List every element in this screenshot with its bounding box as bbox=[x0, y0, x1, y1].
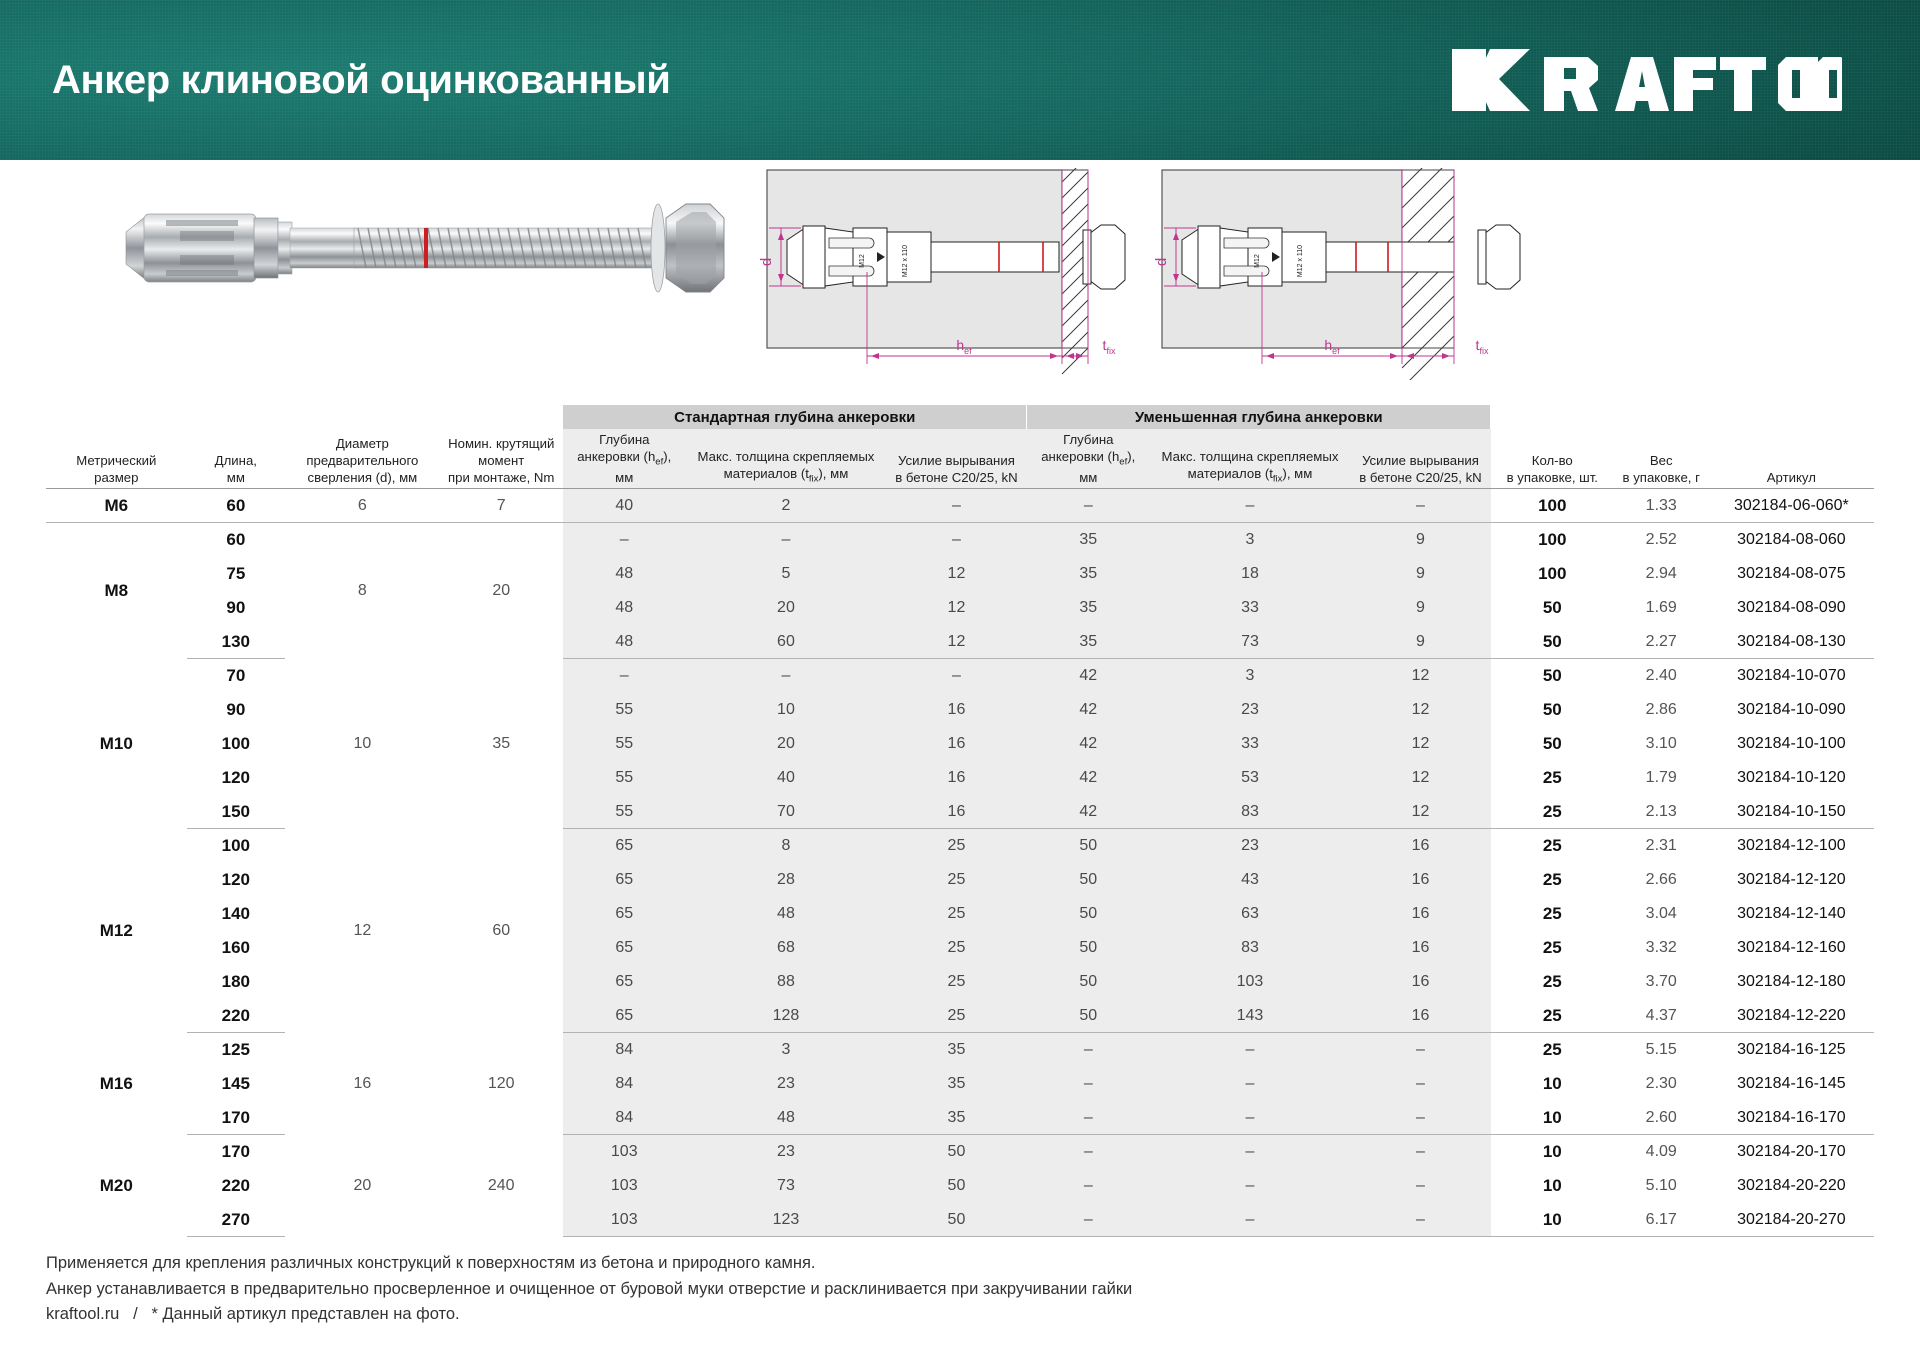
anchor-mark-m12x110: M12 x 110 bbox=[1297, 245, 1304, 277]
cell-pack-weight: 2.13 bbox=[1614, 795, 1709, 829]
cell-red-hef: 35 bbox=[1027, 557, 1150, 591]
dimension-label-tfix-sub: fix bbox=[1106, 346, 1116, 356]
cell-metric-size: M16 bbox=[46, 1033, 187, 1135]
footer-notes: Применяется для крепления различных конс… bbox=[0, 1237, 1920, 1328]
cell-pack-qty: 25 bbox=[1491, 999, 1614, 1033]
cell-red-force: – bbox=[1350, 1169, 1491, 1203]
cell-length: 120 bbox=[187, 761, 285, 795]
cell-std-force: 35 bbox=[886, 1101, 1027, 1135]
cell-length: 160 bbox=[187, 931, 285, 965]
cell-red-hef: 35 bbox=[1027, 523, 1150, 557]
cell-pack-weight: 5.15 bbox=[1614, 1033, 1709, 1067]
cell-pack-weight: 2.66 bbox=[1614, 863, 1709, 897]
cell-red-hef: 50 bbox=[1027, 999, 1150, 1033]
cell-std-tfix: 23 bbox=[686, 1135, 886, 1169]
cell-red-hef: 50 bbox=[1027, 931, 1150, 965]
cell-red-tfix: – bbox=[1150, 1203, 1350, 1237]
cell-red-tfix: – bbox=[1150, 489, 1350, 523]
cell-red-force: 9 bbox=[1350, 625, 1491, 659]
cell-red-tfix: 103 bbox=[1150, 965, 1350, 999]
cell-pack-weight: 1.79 bbox=[1614, 761, 1709, 795]
cell-pack-qty: 50 bbox=[1491, 693, 1614, 727]
cell-article: 302184-08-090 bbox=[1709, 591, 1874, 625]
cell-std-hef: 65 bbox=[563, 965, 686, 999]
anchor-mark-m12x110: M12 x 110 bbox=[902, 245, 909, 277]
cell-drill-diameter: 10 bbox=[285, 659, 440, 829]
cell-red-tfix: 143 bbox=[1150, 999, 1350, 1033]
cell-pack-qty: 50 bbox=[1491, 625, 1614, 659]
cell-std-force: 25 bbox=[886, 965, 1027, 999]
cell-article: 302184-06-060* bbox=[1709, 489, 1874, 523]
cell-pack-qty: 100 bbox=[1491, 523, 1614, 557]
table-row: M66067402––––1001.33302184-06-060* bbox=[46, 489, 1874, 523]
cell-pack-weight: 2.30 bbox=[1614, 1067, 1709, 1101]
page-header: Анкер клиновой оцинкованный bbox=[0, 0, 1920, 160]
cell-pack-qty: 25 bbox=[1491, 931, 1614, 965]
cell-red-hef: 42 bbox=[1027, 659, 1150, 693]
table-row: M161251612084335–––255.15302184-16-125 bbox=[46, 1033, 1874, 1067]
cell-red-hef: 35 bbox=[1027, 591, 1150, 625]
col-red-hef: Глубина анкеровки (hef), мм bbox=[1027, 429, 1150, 489]
cell-std-force: – bbox=[886, 523, 1027, 557]
col-pack-qty: Кол-во в упаковке, шт. bbox=[1491, 429, 1614, 489]
cell-std-force: 50 bbox=[886, 1203, 1027, 1237]
cell-pack-qty: 50 bbox=[1491, 727, 1614, 761]
cell-length: 60 bbox=[187, 489, 285, 523]
cell-std-force: 50 bbox=[886, 1169, 1027, 1203]
cell-red-force: 16 bbox=[1350, 897, 1491, 931]
cell-std-tfix: 68 bbox=[686, 931, 886, 965]
col-length: Длина, мм bbox=[187, 429, 285, 489]
cell-pack-qty: 100 bbox=[1491, 557, 1614, 591]
cell-red-tfix: 33 bbox=[1150, 727, 1350, 761]
cell-std-hef: 84 bbox=[563, 1033, 686, 1067]
svg-text:tfix: tfix bbox=[1476, 337, 1489, 356]
cell-pack-qty: 25 bbox=[1491, 829, 1614, 863]
cell-article: 302184-20-270 bbox=[1709, 1203, 1874, 1237]
cell-red-tfix: – bbox=[1150, 1067, 1350, 1101]
cell-std-force: 25 bbox=[886, 829, 1027, 863]
cell-red-tfix: 43 bbox=[1150, 863, 1350, 897]
cell-pack-weight: 2.27 bbox=[1614, 625, 1709, 659]
col-torque: Номин. крутящий момент при монтаже, Nm bbox=[440, 429, 563, 489]
dimension-label-d: d bbox=[1153, 258, 1170, 266]
dimension-label-hef: h bbox=[956, 337, 964, 353]
cell-red-hef: – bbox=[1027, 489, 1150, 523]
cell-std-force: 16 bbox=[886, 795, 1027, 829]
anchor-mark-m12: M12 bbox=[1254, 254, 1261, 268]
cell-red-force: 16 bbox=[1350, 829, 1491, 863]
cell-std-hef: 65 bbox=[563, 863, 686, 897]
cell-red-hef: – bbox=[1027, 1169, 1150, 1203]
cell-std-hef: 103 bbox=[563, 1169, 686, 1203]
cell-std-force: 25 bbox=[886, 863, 1027, 897]
cell-pack-qty: 50 bbox=[1491, 591, 1614, 625]
cell-metric-size: M12 bbox=[46, 829, 187, 1033]
cell-red-hef: 50 bbox=[1027, 897, 1150, 931]
cell-red-hef: 50 bbox=[1027, 965, 1150, 999]
installation-diagram-reduced: M12 M12 x 110 d hef tfix bbox=[1152, 168, 1537, 380]
cell-std-tfix: 3 bbox=[686, 1033, 886, 1067]
cell-red-force: 12 bbox=[1350, 659, 1491, 693]
spec-table-container: Стандартная глубина анкеровки Уменьшенна… bbox=[0, 405, 1920, 1237]
cell-article: 302184-12-220 bbox=[1709, 999, 1874, 1033]
cell-red-hef: 35 bbox=[1027, 625, 1150, 659]
cell-article: 302184-08-130 bbox=[1709, 625, 1874, 659]
cell-std-hef: 48 bbox=[563, 625, 686, 659]
cell-metric-size: M10 bbox=[46, 659, 187, 829]
cell-std-hef: – bbox=[563, 659, 686, 693]
cell-red-force: – bbox=[1350, 1135, 1491, 1169]
note-line-2: Анкер устанавливается в предварительно п… bbox=[46, 1277, 1874, 1303]
cell-drill-diameter: 16 bbox=[285, 1033, 440, 1135]
cell-length: 170 bbox=[187, 1101, 285, 1135]
cell-red-force: 16 bbox=[1350, 965, 1491, 999]
col-article: Артикул bbox=[1709, 429, 1874, 489]
dimension-label-tfix-sub: fix bbox=[1479, 346, 1489, 356]
cell-red-tfix: 53 bbox=[1150, 761, 1350, 795]
spec-table: Стандартная глубина анкеровки Уменьшенна… bbox=[46, 405, 1874, 1237]
cell-pack-weight: 6.17 bbox=[1614, 1203, 1709, 1237]
cell-metric-size: M8 bbox=[46, 523, 187, 659]
cell-torque: 60 bbox=[440, 829, 563, 1033]
cell-red-force: 9 bbox=[1350, 523, 1491, 557]
cell-std-hef: 55 bbox=[563, 693, 686, 727]
cell-red-hef: – bbox=[1027, 1101, 1150, 1135]
cell-pack-weight: 4.09 bbox=[1614, 1135, 1709, 1169]
cell-std-hef: 55 bbox=[563, 761, 686, 795]
cell-std-tfix: 20 bbox=[686, 591, 886, 625]
cell-pack-weight: 3.04 bbox=[1614, 897, 1709, 931]
cell-drill-diameter: 6 bbox=[285, 489, 440, 523]
page-title: Анкер клиновой оцинкованный bbox=[52, 58, 670, 103]
table-row: M10701035–––42312502.40302184-10-070 bbox=[46, 659, 1874, 693]
cell-length: 120 bbox=[187, 863, 285, 897]
cell-red-hef: 42 bbox=[1027, 795, 1150, 829]
cell-length: 125 bbox=[187, 1033, 285, 1067]
cell-std-force: 25 bbox=[886, 897, 1027, 931]
cell-pack-weight: 3.70 bbox=[1614, 965, 1709, 999]
dimension-label-hef: h bbox=[1324, 337, 1332, 353]
cell-article: 302184-16-170 bbox=[1709, 1101, 1874, 1135]
cell-red-tfix: 23 bbox=[1150, 829, 1350, 863]
cell-length: 90 bbox=[187, 693, 285, 727]
cell-torque: 240 bbox=[440, 1135, 563, 1237]
cell-pack-weight: 2.94 bbox=[1614, 557, 1709, 591]
cell-length: 270 bbox=[187, 1203, 285, 1237]
cell-length: 70 bbox=[187, 659, 285, 693]
group-reduced-depth: Уменьшенная глубина анкеровки bbox=[1027, 405, 1491, 429]
cell-pack-qty: 25 bbox=[1491, 965, 1614, 999]
cell-std-tfix: 20 bbox=[686, 727, 886, 761]
cell-length: 100 bbox=[187, 727, 285, 761]
cell-std-hef: 84 bbox=[563, 1067, 686, 1101]
table-row: M860820–––35391002.52302184-08-060 bbox=[46, 523, 1874, 557]
cell-article: 302184-08-075 bbox=[1709, 557, 1874, 591]
cell-pack-qty: 25 bbox=[1491, 1033, 1614, 1067]
col-pack-weight: Вес в упаковке, г bbox=[1614, 429, 1709, 489]
cell-red-tfix: 3 bbox=[1150, 659, 1350, 693]
cell-pack-weight: 3.32 bbox=[1614, 931, 1709, 965]
cell-article: 302184-16-125 bbox=[1709, 1033, 1874, 1067]
cell-article: 302184-12-120 bbox=[1709, 863, 1874, 897]
cell-std-hef: 65 bbox=[563, 999, 686, 1033]
cell-std-tfix: 10 bbox=[686, 693, 886, 727]
cell-std-hef: 84 bbox=[563, 1101, 686, 1135]
cell-red-force: – bbox=[1350, 1101, 1491, 1135]
cell-torque: 120 bbox=[440, 1033, 563, 1135]
col-std-tfix: Макс. толщина скрепляемых материалов (tf… bbox=[686, 429, 886, 489]
cell-red-hef: – bbox=[1027, 1067, 1150, 1101]
svg-text:tfix: tfix bbox=[1103, 337, 1116, 356]
cell-red-force: – bbox=[1350, 1067, 1491, 1101]
cell-pack-qty: 100 bbox=[1491, 489, 1614, 523]
note-line-1: Применяется для крепления различных конс… bbox=[46, 1251, 1874, 1277]
cell-std-force: 16 bbox=[886, 761, 1027, 795]
cell-torque: 20 bbox=[440, 523, 563, 659]
cell-red-tfix: 33 bbox=[1150, 591, 1350, 625]
cell-std-hef: 65 bbox=[563, 931, 686, 965]
cell-red-force: 9 bbox=[1350, 557, 1491, 591]
cell-std-force: 25 bbox=[886, 999, 1027, 1033]
cell-pack-weight: 5.10 bbox=[1614, 1169, 1709, 1203]
cell-length: 140 bbox=[187, 897, 285, 931]
cell-std-force: 35 bbox=[886, 1033, 1027, 1067]
cell-article: 302184-20-220 bbox=[1709, 1169, 1874, 1203]
cell-article: 302184-10-100 bbox=[1709, 727, 1874, 761]
cell-pack-qty: 50 bbox=[1491, 659, 1614, 693]
table-row: M20170202401032350–––104.09302184-20-170 bbox=[46, 1135, 1874, 1169]
cell-std-force: 16 bbox=[886, 693, 1027, 727]
cell-red-force: – bbox=[1350, 1033, 1491, 1067]
cell-article: 302184-10-120 bbox=[1709, 761, 1874, 795]
cell-std-tfix: 8 bbox=[686, 829, 886, 863]
cell-std-force: – bbox=[886, 659, 1027, 693]
group-blank-right bbox=[1491, 405, 1874, 429]
cell-std-force: 12 bbox=[886, 625, 1027, 659]
cell-red-force: 9 bbox=[1350, 591, 1491, 625]
cell-std-hef: 40 bbox=[563, 489, 686, 523]
cell-length: 220 bbox=[187, 999, 285, 1033]
cell-red-hef: 42 bbox=[1027, 693, 1150, 727]
installation-diagram-standard: M12 M12 x 110 d hef bbox=[757, 168, 1142, 380]
cell-red-tfix: – bbox=[1150, 1033, 1350, 1067]
cell-std-tfix: 60 bbox=[686, 625, 886, 659]
cell-article: 302184-10-150 bbox=[1709, 795, 1874, 829]
cell-pack-qty: 10 bbox=[1491, 1203, 1614, 1237]
cell-red-force: 16 bbox=[1350, 999, 1491, 1033]
group-header-row: Стандартная глубина анкеровки Уменьшенна… bbox=[46, 405, 1874, 429]
col-std-force: Усилие вырывания в бетоне C20/25, kN bbox=[886, 429, 1027, 489]
cell-red-tfix: – bbox=[1150, 1169, 1350, 1203]
cell-length: 100 bbox=[187, 829, 285, 863]
cell-std-tfix: 48 bbox=[686, 1101, 886, 1135]
dimension-label-d: d bbox=[758, 258, 775, 266]
table-body: M66067402––––1001.33302184-06-060*M86082… bbox=[46, 489, 1874, 1237]
cell-pack-qty: 25 bbox=[1491, 761, 1614, 795]
anchor-mark-m12: M12 bbox=[859, 254, 866, 268]
cell-std-force: 50 bbox=[886, 1135, 1027, 1169]
cell-pack-qty: 25 bbox=[1491, 795, 1614, 829]
cell-std-hef: 48 bbox=[563, 557, 686, 591]
cell-article: 302184-12-180 bbox=[1709, 965, 1874, 999]
illustration-band: M12 M12 x 110 d hef bbox=[0, 160, 1920, 405]
cell-article: 302184-12-100 bbox=[1709, 829, 1874, 863]
cell-red-hef: – bbox=[1027, 1203, 1150, 1237]
cell-drill-diameter: 8 bbox=[285, 523, 440, 659]
cell-std-tfix: 23 bbox=[686, 1067, 886, 1101]
cell-length: 170 bbox=[187, 1135, 285, 1169]
cell-pack-weight: 2.40 bbox=[1614, 659, 1709, 693]
cell-red-force: 12 bbox=[1350, 693, 1491, 727]
cell-std-tfix: 40 bbox=[686, 761, 886, 795]
cell-pack-qty: 10 bbox=[1491, 1135, 1614, 1169]
dimension-label-hef-sub: ef bbox=[964, 346, 972, 356]
group-blank-left bbox=[46, 405, 563, 429]
cell-red-tfix: 3 bbox=[1150, 523, 1350, 557]
note-line-3: kraftool.ru / * Данный артикул представл… bbox=[46, 1302, 1874, 1328]
cell-std-hef: 55 bbox=[563, 727, 686, 761]
cell-std-hef: 48 bbox=[563, 591, 686, 625]
cell-article: 302184-20-170 bbox=[1709, 1135, 1874, 1169]
cell-drill-diameter: 20 bbox=[285, 1135, 440, 1237]
cell-length: 220 bbox=[187, 1169, 285, 1203]
cell-std-tfix: 2 bbox=[686, 489, 886, 523]
cell-std-tfix: 88 bbox=[686, 965, 886, 999]
col-drill-diameter: Диаметр предварительного сверления (d), … bbox=[285, 429, 440, 489]
cell-std-tfix: 123 bbox=[686, 1203, 886, 1237]
table-row: M12100126065825502316252.31302184-12-100 bbox=[46, 829, 1874, 863]
col-red-force: Усилие вырывания в бетоне C20/25, kN bbox=[1350, 429, 1491, 489]
cell-metric-size: M6 bbox=[46, 489, 187, 523]
cell-red-force: – bbox=[1350, 1203, 1491, 1237]
column-header-row: Метрический размер Длина, мм Диаметр пре… bbox=[46, 429, 1874, 489]
table-head: Стандартная глубина анкеровки Уменьшенна… bbox=[46, 405, 1874, 489]
cell-pack-weight: 3.10 bbox=[1614, 727, 1709, 761]
cell-pack-weight: 2.60 bbox=[1614, 1101, 1709, 1135]
cell-red-tfix: 18 bbox=[1150, 557, 1350, 591]
cell-std-hef: – bbox=[563, 523, 686, 557]
cell-red-tfix: 83 bbox=[1150, 931, 1350, 965]
cell-metric-size: M20 bbox=[46, 1135, 187, 1237]
cell-pack-qty: 10 bbox=[1491, 1169, 1614, 1203]
cell-length: 150 bbox=[187, 795, 285, 829]
cell-pack-qty: 25 bbox=[1491, 863, 1614, 897]
cell-article: 302184-10-090 bbox=[1709, 693, 1874, 727]
cell-std-hef: 65 bbox=[563, 829, 686, 863]
cell-red-tfix: 83 bbox=[1150, 795, 1350, 829]
col-red-tfix: Макс. толщина скрепляемых материалов (tf… bbox=[1150, 429, 1350, 489]
col-metric-size: Метрический размер bbox=[46, 429, 187, 489]
cell-length: 60 bbox=[187, 523, 285, 557]
cell-red-force: 16 bbox=[1350, 931, 1491, 965]
cell-length: 75 bbox=[187, 557, 285, 591]
cell-torque: 7 bbox=[440, 489, 563, 523]
col-std-hef: Глубина анкеровки (hef), мм bbox=[563, 429, 686, 489]
cell-red-hef: 42 bbox=[1027, 761, 1150, 795]
cell-std-tfix: 70 bbox=[686, 795, 886, 829]
cell-pack-qty: 10 bbox=[1491, 1101, 1614, 1135]
cell-red-tfix: – bbox=[1150, 1101, 1350, 1135]
note-separator: / bbox=[133, 1305, 138, 1323]
cell-red-tfix: 73 bbox=[1150, 625, 1350, 659]
cell-length: 130 bbox=[187, 625, 285, 659]
kraftool-logo bbox=[1452, 49, 1868, 111]
cell-std-tfix: 5 bbox=[686, 557, 886, 591]
cell-pack-weight: 2.86 bbox=[1614, 693, 1709, 727]
cell-std-hef: 55 bbox=[563, 795, 686, 829]
cell-pack-weight: 1.69 bbox=[1614, 591, 1709, 625]
cell-article: 302184-10-070 bbox=[1709, 659, 1874, 693]
cell-article: 302184-08-060 bbox=[1709, 523, 1874, 557]
cell-article: 302184-12-160 bbox=[1709, 931, 1874, 965]
product-photo-anchor bbox=[120, 188, 730, 308]
cell-red-force: 16 bbox=[1350, 863, 1491, 897]
cell-std-force: 25 bbox=[886, 931, 1027, 965]
cell-red-tfix: – bbox=[1150, 1135, 1350, 1169]
cell-std-force: 35 bbox=[886, 1067, 1027, 1101]
cell-red-hef: 42 bbox=[1027, 727, 1150, 761]
cell-std-tfix: 128 bbox=[686, 999, 886, 1033]
cell-std-tfix: – bbox=[686, 523, 886, 557]
site-link[interactable]: kraftool.ru bbox=[46, 1305, 119, 1323]
cell-std-force: – bbox=[886, 489, 1027, 523]
cell-length: 180 bbox=[187, 965, 285, 999]
cell-article: 302184-12-140 bbox=[1709, 897, 1874, 931]
cell-pack-weight: 2.31 bbox=[1614, 829, 1709, 863]
cell-std-force: 12 bbox=[886, 557, 1027, 591]
cell-std-tfix: 48 bbox=[686, 897, 886, 931]
cell-drill-diameter: 12 bbox=[285, 829, 440, 1033]
cell-article: 302184-16-145 bbox=[1709, 1067, 1874, 1101]
group-standard-depth: Стандартная глубина анкеровки bbox=[563, 405, 1027, 429]
cell-std-tfix: 28 bbox=[686, 863, 886, 897]
cell-red-hef: 50 bbox=[1027, 863, 1150, 897]
cell-red-force: 12 bbox=[1350, 761, 1491, 795]
cell-std-tfix: – bbox=[686, 659, 886, 693]
cell-red-force: 12 bbox=[1350, 727, 1491, 761]
cell-pack-qty: 25 bbox=[1491, 897, 1614, 931]
cell-std-tfix: 73 bbox=[686, 1169, 886, 1203]
cell-red-tfix: 63 bbox=[1150, 897, 1350, 931]
cell-pack-weight: 4.37 bbox=[1614, 999, 1709, 1033]
cell-pack-weight: 1.33 bbox=[1614, 489, 1709, 523]
cell-red-force: – bbox=[1350, 489, 1491, 523]
cell-std-hef: 103 bbox=[563, 1135, 686, 1169]
cell-pack-weight: 2.52 bbox=[1614, 523, 1709, 557]
cell-std-hef: 103 bbox=[563, 1203, 686, 1237]
cell-red-force: 12 bbox=[1350, 795, 1491, 829]
cell-red-tfix: 23 bbox=[1150, 693, 1350, 727]
cell-red-hef: – bbox=[1027, 1135, 1150, 1169]
cell-std-hef: 65 bbox=[563, 897, 686, 931]
photo-article-note: * Данный артикул представлен на фото. bbox=[152, 1305, 460, 1323]
dimension-label-hef-sub: ef bbox=[1332, 346, 1340, 356]
cell-torque: 35 bbox=[440, 659, 563, 829]
cell-pack-qty: 10 bbox=[1491, 1067, 1614, 1101]
cell-red-hef: – bbox=[1027, 1033, 1150, 1067]
cell-std-force: 12 bbox=[886, 591, 1027, 625]
cell-std-force: 16 bbox=[886, 727, 1027, 761]
cell-red-hef: 50 bbox=[1027, 829, 1150, 863]
cell-length: 145 bbox=[187, 1067, 285, 1101]
cell-length: 90 bbox=[187, 591, 285, 625]
